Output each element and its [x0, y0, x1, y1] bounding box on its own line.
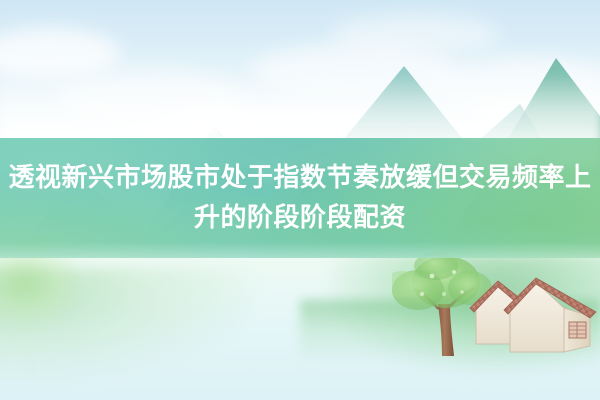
- article-banner: 透视新兴市场股市处于指数节奏放缓但交易频率上 升的阶段阶段配资: [0, 0, 600, 400]
- band-bottom-fade: [0, 242, 600, 258]
- page-title-line-1: 透视新兴市场股市处于指数节奏放缓但交易频率上: [8, 158, 592, 198]
- house-illustration: [468, 272, 598, 368]
- page-title: 透视新兴市场股市处于指数节奏放缓但交易频率上 升的阶段阶段配资: [8, 158, 592, 238]
- page-title-line-2: 升的阶段阶段配资: [8, 198, 592, 238]
- title-overlay-band: 透视新兴市场股市处于指数节奏放缓但交易频率上 升的阶段阶段配资: [0, 138, 600, 258]
